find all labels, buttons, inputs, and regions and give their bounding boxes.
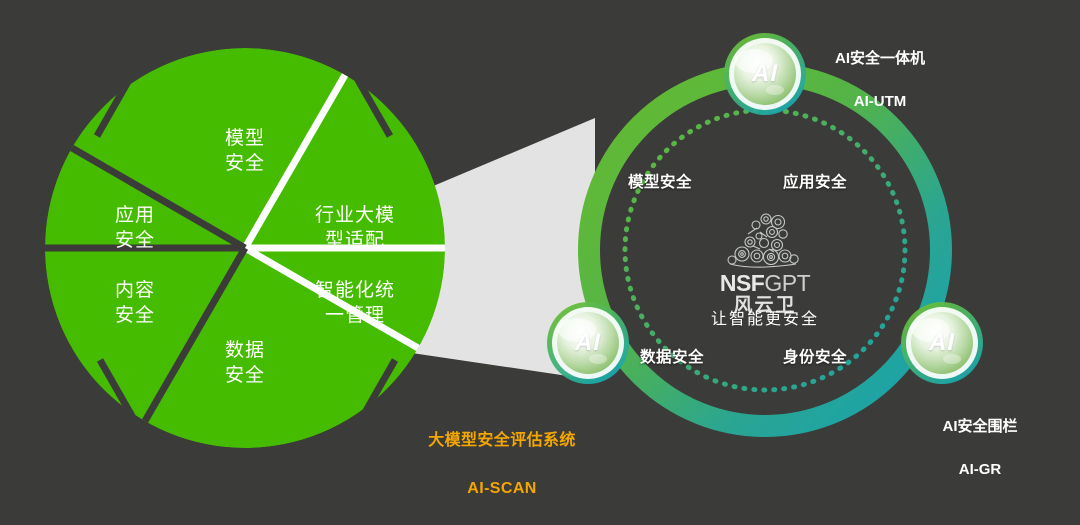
brand-slogan: 让智能更安全 (672, 305, 858, 329)
brand-word-soft: GPT (764, 270, 810, 296)
node-title-cn: AI安全围栏 (905, 416, 1055, 438)
inner-label-model-security: 模型安全 (628, 170, 692, 192)
capability-wheel: 模型 安全 行业大模 型适配 智能化统 一管理 数据 安全 内容 安全 应用 安… (45, 48, 445, 448)
pie-slices (45, 48, 445, 448)
infographic-canvas: 模型 安全 行业大模 型适配 智能化统 一管理 数据 安全 内容 安全 应用 安… (0, 0, 1080, 495)
inner-label-application-security: 应用安全 (783, 170, 847, 192)
ai-sphere-label: AI (905, 306, 979, 380)
node-title-en: AI-GR (905, 459, 1055, 481)
brand-wordmark: NSFGPT (702, 272, 828, 295)
ai-scan-title-en: AI-SCAN (402, 477, 602, 501)
ai-sphere-text-scan: AI (551, 306, 625, 380)
inner-label-identity-security: 身份安全 (783, 345, 847, 367)
brand-word-bold: NSF (720, 270, 765, 296)
ai-sphere-label: AI (551, 306, 625, 380)
inner-label-data-security: 数据安全 (640, 345, 704, 367)
node-title-cn: AI安全一体机 (790, 48, 970, 70)
nsfgpt-cloud-gears-logo-icon (726, 212, 804, 274)
ai-sphere-text-gr: AI (905, 306, 979, 380)
node-caption-ai-utm: AI安全一体机 AI-UTM (790, 26, 970, 135)
node-caption-ai-gr: AI安全围栏 AI-GR (905, 394, 1055, 503)
node-title-en: AI-UTM (790, 91, 970, 113)
